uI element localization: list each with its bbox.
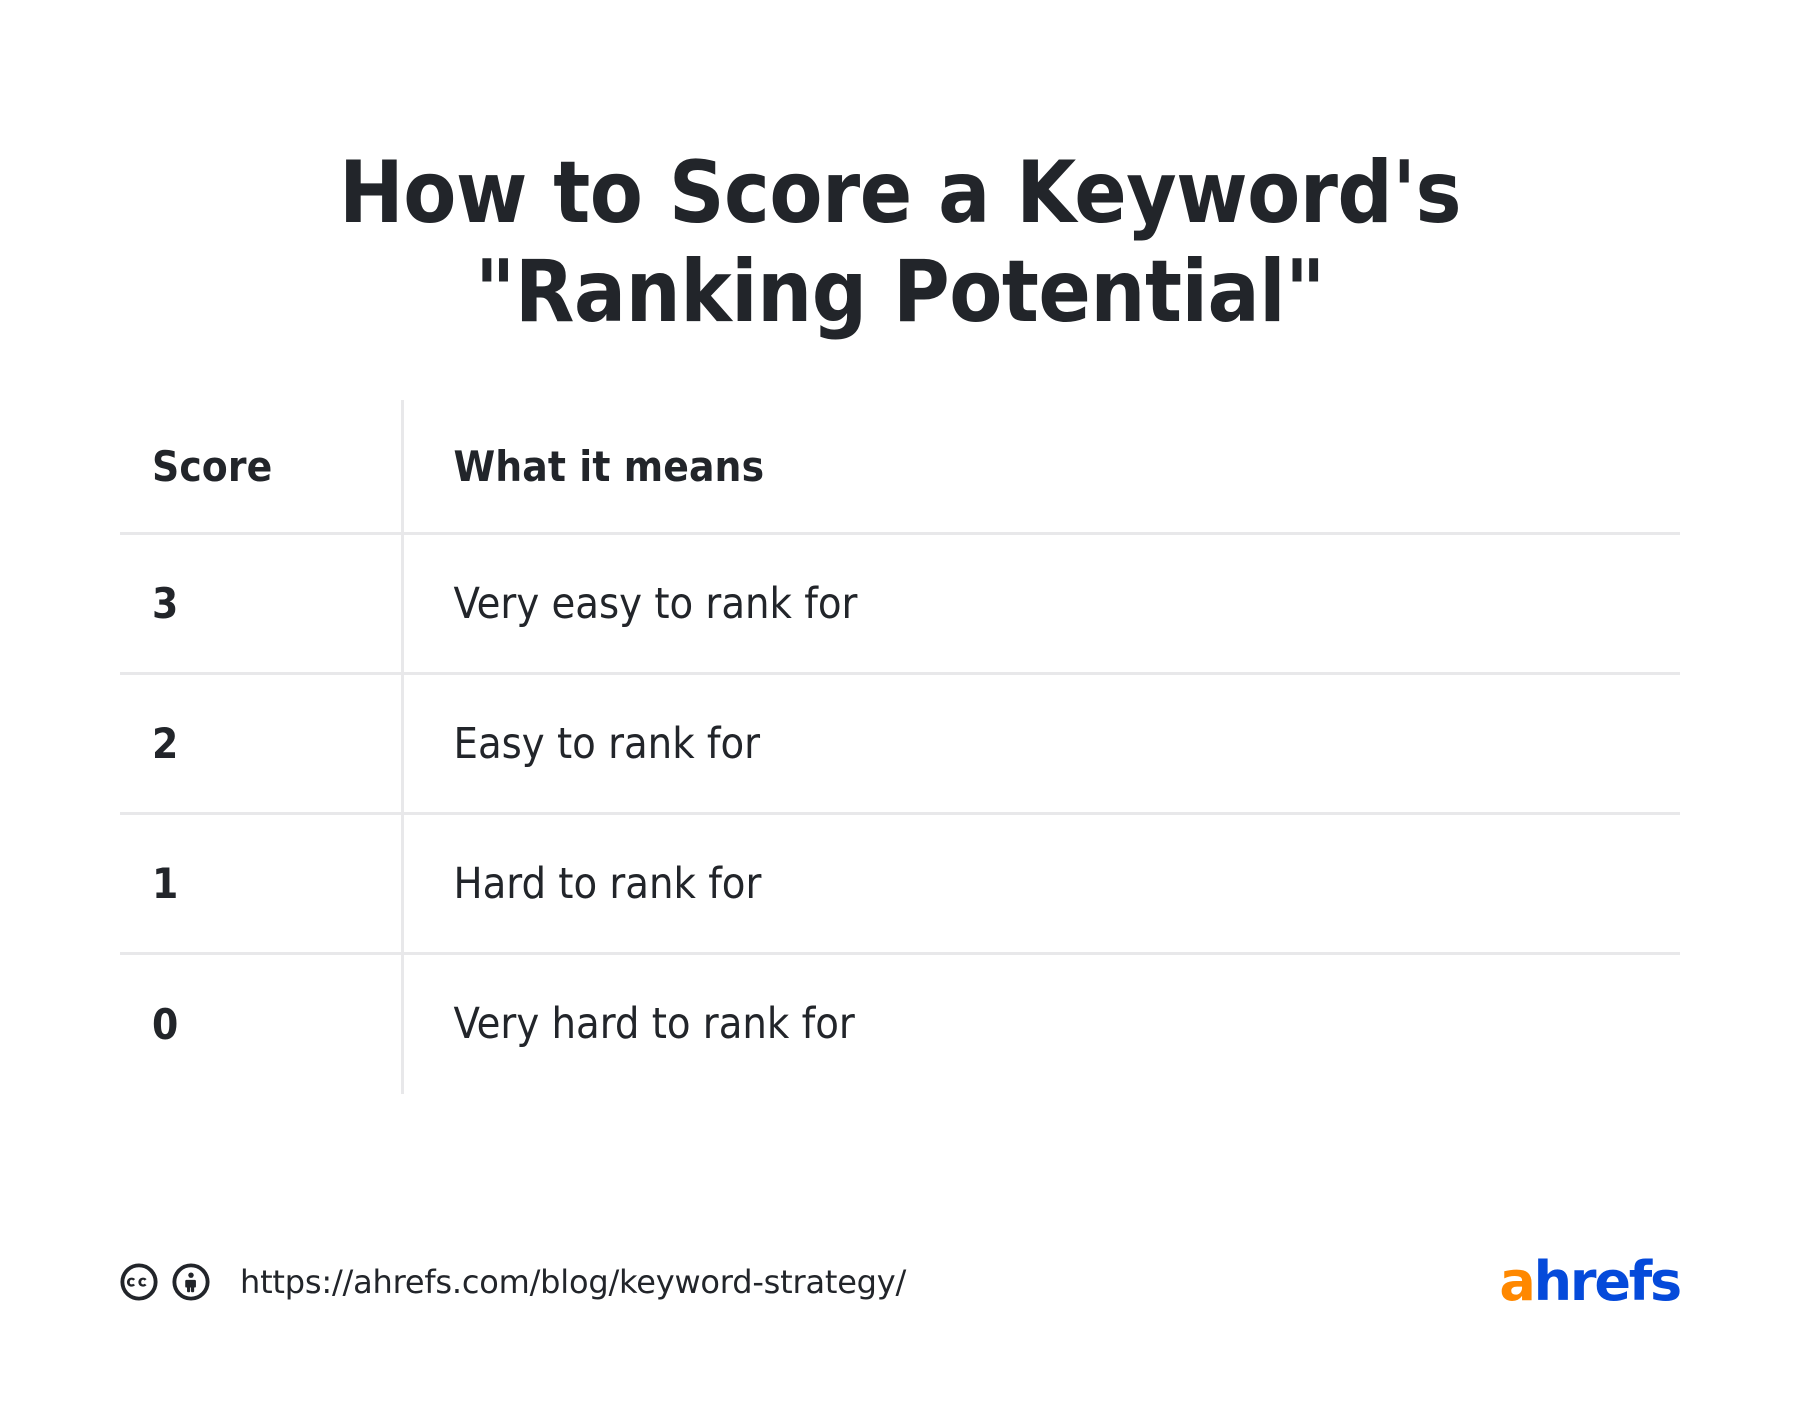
- cell-meaning: Easy to rank for: [402, 674, 1680, 814]
- table-header-row: Score What it means: [120, 400, 1680, 534]
- table-head: Score What it means: [120, 400, 1680, 534]
- footer: https://ahrefs.com/blog/keyword-strategy…: [120, 1252, 1680, 1312]
- table-row: 3 Very easy to rank for: [120, 534, 1680, 674]
- column-header-what-it-means: What it means: [402, 400, 1680, 534]
- column-header-score: Score: [120, 400, 402, 534]
- license-icons: [120, 1263, 210, 1301]
- ahrefs-logo: ahrefs: [1499, 1255, 1680, 1309]
- infographic-page: How to Score a Keyword's "Ranking Potent…: [0, 0, 1800, 1410]
- table-row: 1 Hard to rank for: [120, 814, 1680, 954]
- cell-meaning: Very hard to rank for: [402, 954, 1680, 1094]
- cc-by-attribution-icon: [172, 1263, 210, 1301]
- score-table: Score What it means 3 Very easy to rank …: [120, 400, 1680, 1094]
- page-title: How to Score a Keyword's "Ranking Potent…: [0, 144, 1800, 344]
- score-table-container: Score What it means 3 Very easy to rank …: [120, 400, 1680, 1094]
- logo-wordmark: hrefs: [1534, 1250, 1680, 1313]
- cell-meaning: Hard to rank for: [402, 814, 1680, 954]
- cell-score: 0: [120, 954, 402, 1094]
- cell-score: 3: [120, 534, 402, 674]
- table-row: 0 Very hard to rank for: [120, 954, 1680, 1094]
- logo-accent-letter: a: [1499, 1250, 1533, 1313]
- table-row: 2 Easy to rank for: [120, 674, 1680, 814]
- table-body: 3 Very easy to rank for 2 Easy to rank f…: [120, 534, 1680, 1094]
- cell-score: 1: [120, 814, 402, 954]
- cell-score: 2: [120, 674, 402, 814]
- source-url[interactable]: https://ahrefs.com/blog/keyword-strategy…: [240, 1263, 906, 1301]
- cell-meaning: Very easy to rank for: [402, 534, 1680, 674]
- cc-icon: [120, 1263, 158, 1301]
